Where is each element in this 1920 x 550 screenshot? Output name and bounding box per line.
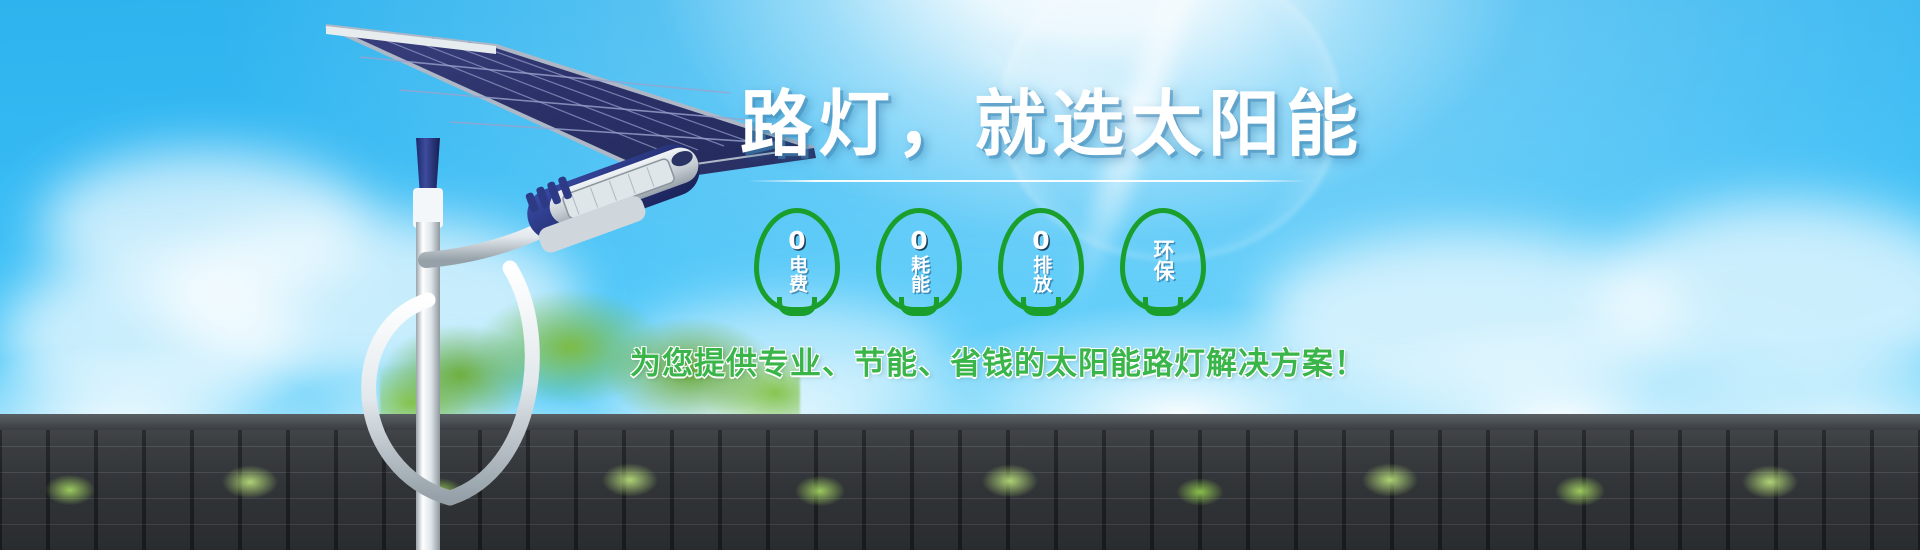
- badge-label: 排放: [1031, 255, 1051, 293]
- badge-label: 耗能: [909, 255, 929, 293]
- feature-badge-1-energy: 0 耗能: [876, 208, 962, 312]
- solar-street-light-banner: 路灯，就选太阳能 0 电费 0 耗能 0 排放 环保: [0, 0, 1920, 550]
- badge-zero: 0: [1032, 228, 1049, 253]
- feature-badge-2-emission: 0 排放: [998, 208, 1084, 312]
- feature-badge-3-eco: 环保: [1120, 208, 1206, 312]
- feature-badge-0-electricity: 0 电费: [754, 208, 840, 312]
- page-title: 路灯，就选太阳能: [740, 88, 1440, 160]
- badge-label: 环保: [1152, 239, 1174, 281]
- tiled-wall: [0, 420, 1920, 550]
- banner-tagline: 为您提供专业、节能、省钱的太阳能路灯解决方案！: [630, 338, 1440, 383]
- feature-badge-list: 0 电费 0 耗能 0 排放 环保: [754, 208, 1440, 312]
- cloud: [0, 255, 300, 415]
- banner-copy: 路灯，就选太阳能 0 电费 0 耗能 0 排放 环保: [740, 88, 1440, 383]
- badge-zero: 0: [910, 228, 927, 253]
- headline-divider: [748, 180, 1308, 182]
- badge-label: 电费: [787, 255, 807, 293]
- badge-zero: 0: [788, 228, 805, 253]
